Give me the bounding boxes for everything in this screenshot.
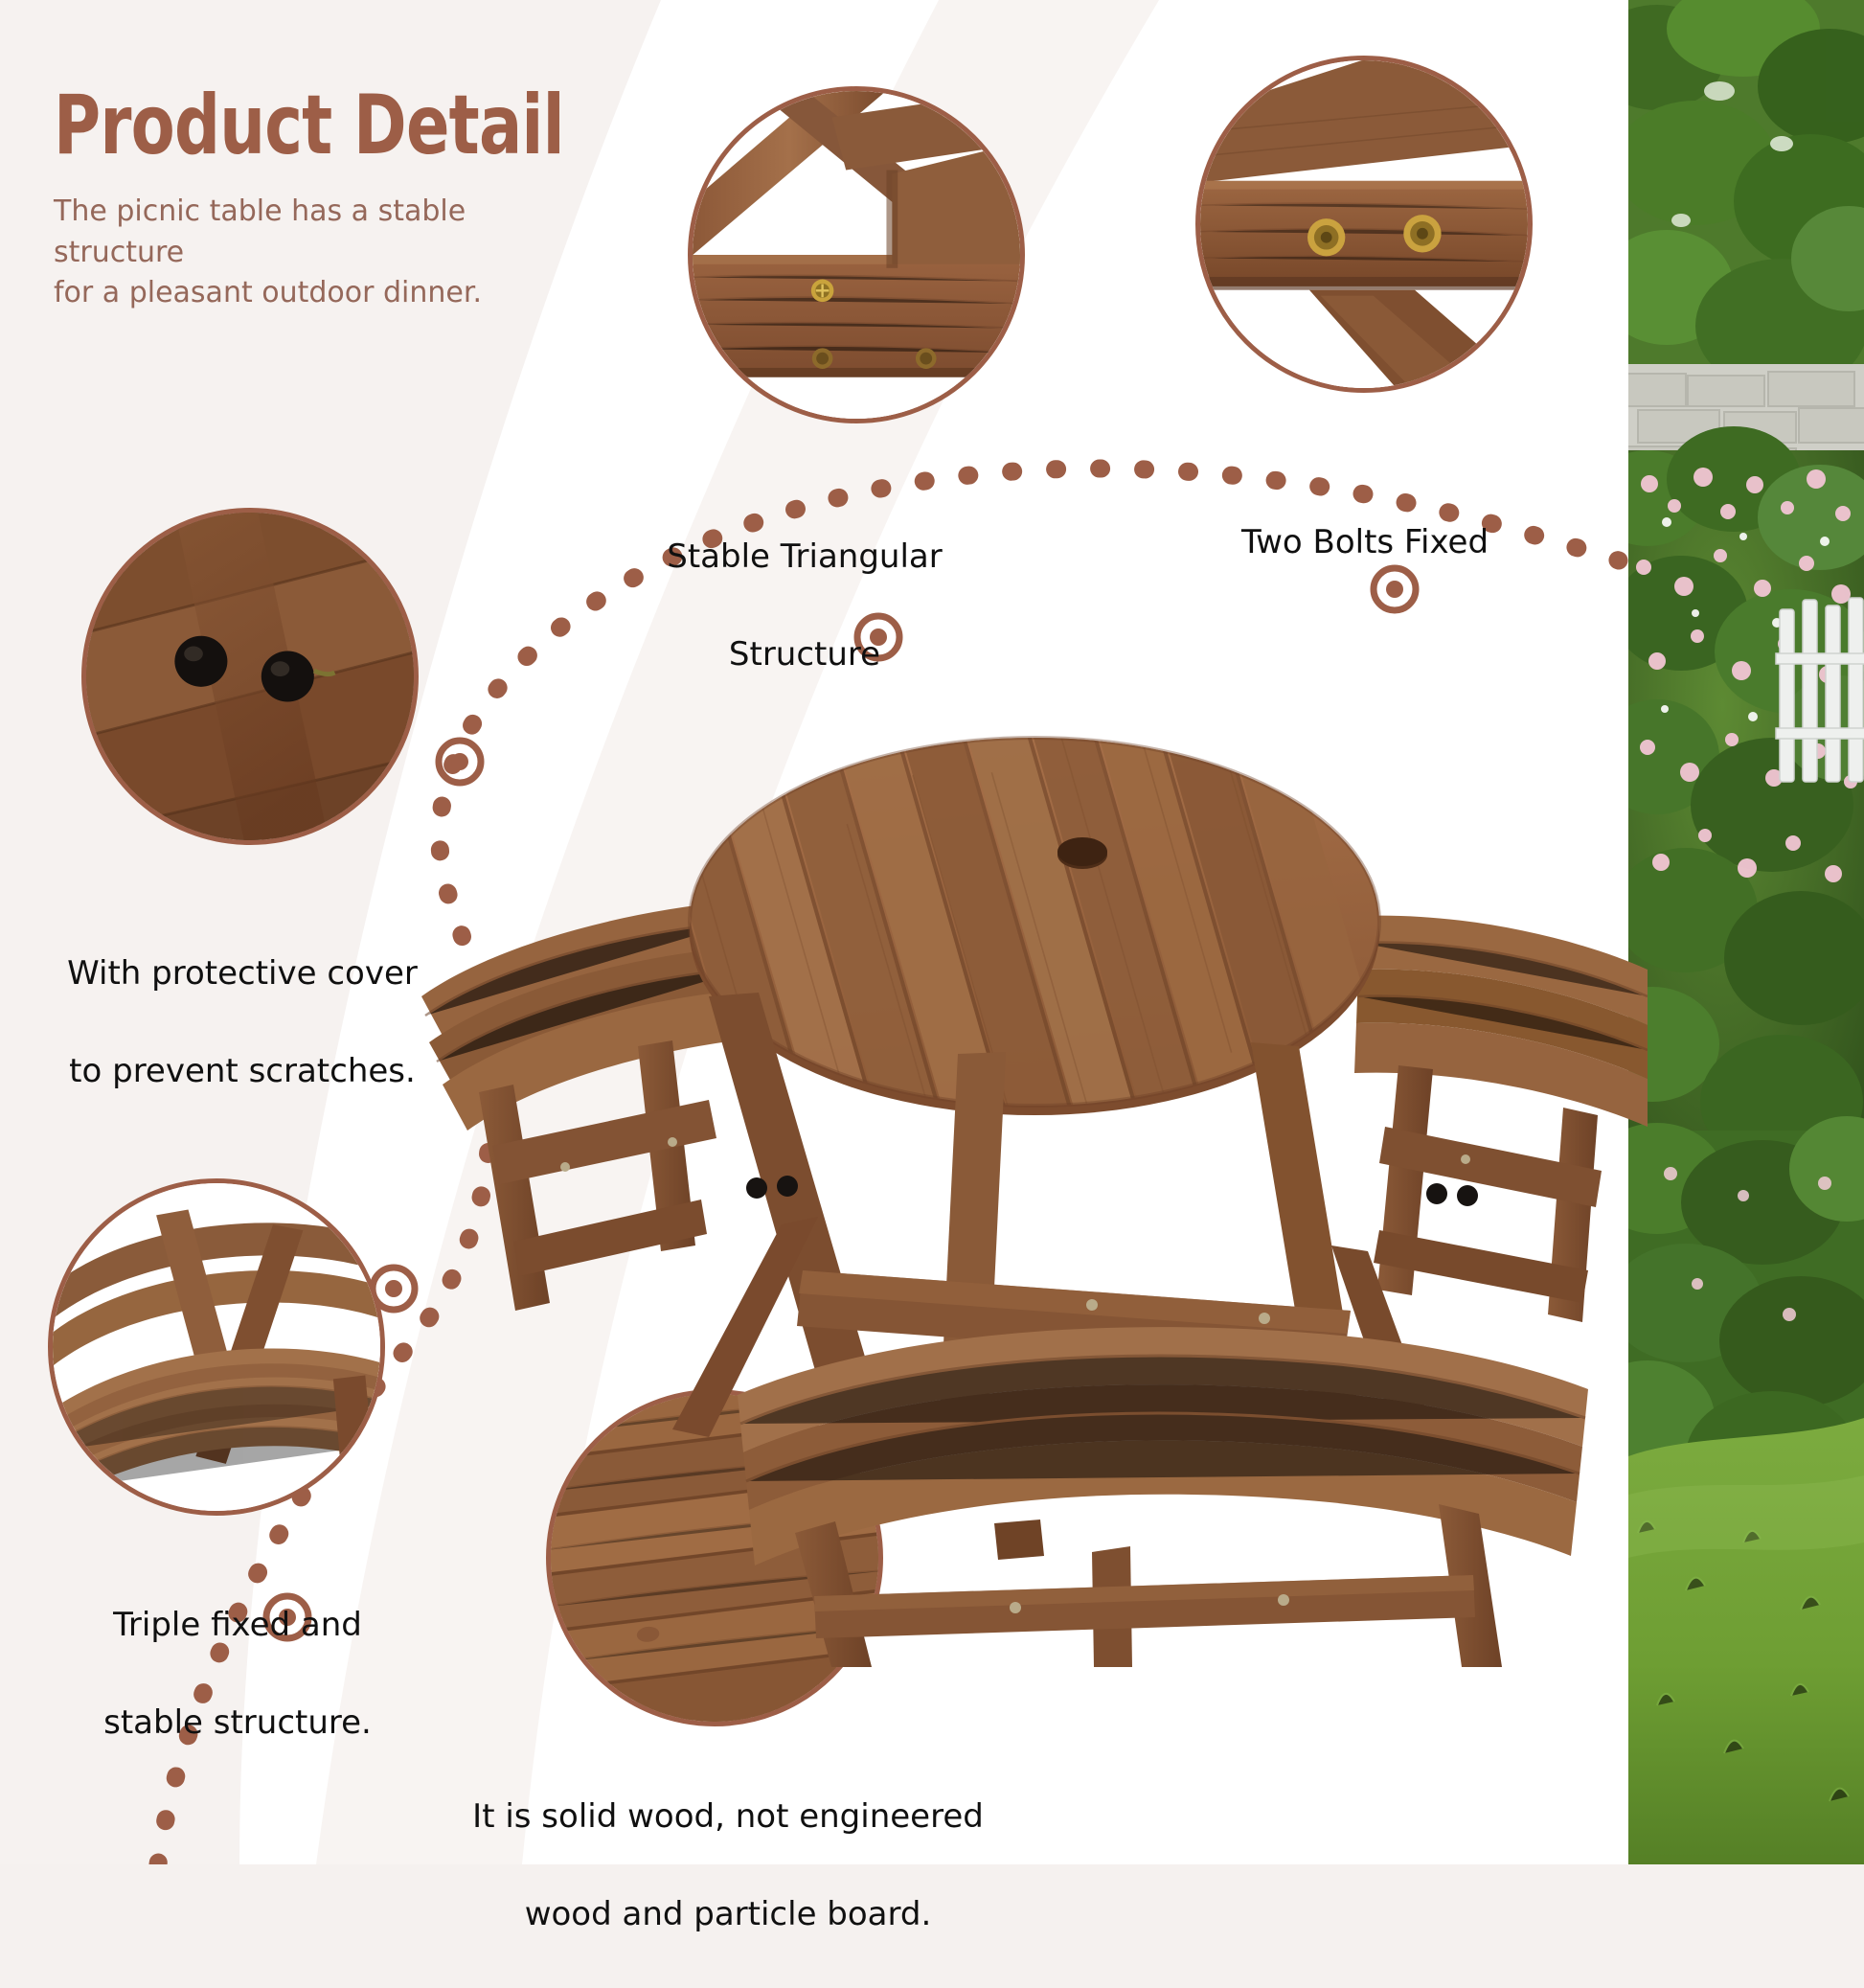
- circle-photo-bench-frame: [51, 1181, 382, 1513]
- subtitle-line-2: for a pleasant outdoor dinner.: [54, 273, 590, 314]
- caption-triple-fixed-structure: Triple fixed and stable structure.: [46, 1552, 429, 1796]
- caption-line-2: to prevent scratches.: [46, 1047, 439, 1096]
- screw-icon: [812, 348, 833, 369]
- caption-line-2: wood and particle board.: [402, 1890, 1054, 1939]
- page-title: Product Detail: [54, 84, 532, 167]
- detail-circle-protective-cover[interactable]: [81, 508, 419, 845]
- caption-line-1: Triple fixed and: [46, 1601, 429, 1650]
- caption-line-1: Stable Triangular: [603, 533, 1006, 582]
- product-photo-picnic-table: [421, 709, 1648, 1667]
- detail-circle-triple-fixed-structure[interactable]: [48, 1178, 385, 1516]
- caption-protective-cover: With protective cover to prevent scratch…: [46, 901, 439, 1145]
- circle-photo-bolt-pair: [1198, 58, 1530, 390]
- caption-line-1: With protective cover: [46, 949, 439, 998]
- caption-stable-triangular-structure: Stable Triangular Structure: [603, 484, 1006, 728]
- garden-photo: [1628, 0, 1864, 1864]
- rubber-cap-icon: [174, 636, 227, 687]
- screw-icon: [811, 280, 834, 303]
- caption-line-1: It is solid wood, not engineered: [402, 1793, 1054, 1841]
- bench-rear-right: [1354, 916, 1648, 1322]
- screw-icon: [916, 348, 937, 369]
- bolt-icon: [1307, 218, 1345, 256]
- circle-photo-rubber-caps: [84, 511, 416, 842]
- detail-circle-stable-triangular-structure[interactable]: [688, 86, 1025, 423]
- caption-line-2: stable structure.: [46, 1699, 429, 1748]
- bench-front: [738, 1327, 1588, 1667]
- caption-line-2: Structure: [603, 630, 1006, 679]
- garden-photo-panel: [1628, 0, 1864, 1864]
- subtitle-line-1: The picnic table has a stable structure: [54, 192, 590, 273]
- page-subtitle: The picnic table has a stable structure …: [54, 192, 590, 314]
- infographic-canvas: Product Detail The picnic table has a st…: [0, 0, 1864, 1864]
- caption-solid-wood: It is solid wood, not engineered wood an…: [402, 1744, 1054, 1988]
- caption-two-bolts-fixed: Two Bolts Fixed: [1140, 469, 1590, 616]
- detail-circle-two-bolts-fixed[interactable]: [1195, 56, 1533, 393]
- circle-photo-joint-bracket: [691, 89, 1022, 421]
- caption-line-1: Two Bolts Fixed: [1140, 518, 1590, 567]
- bolt-icon: [1403, 215, 1441, 252]
- header-block: Product Detail The picnic table has a st…: [54, 84, 667, 314]
